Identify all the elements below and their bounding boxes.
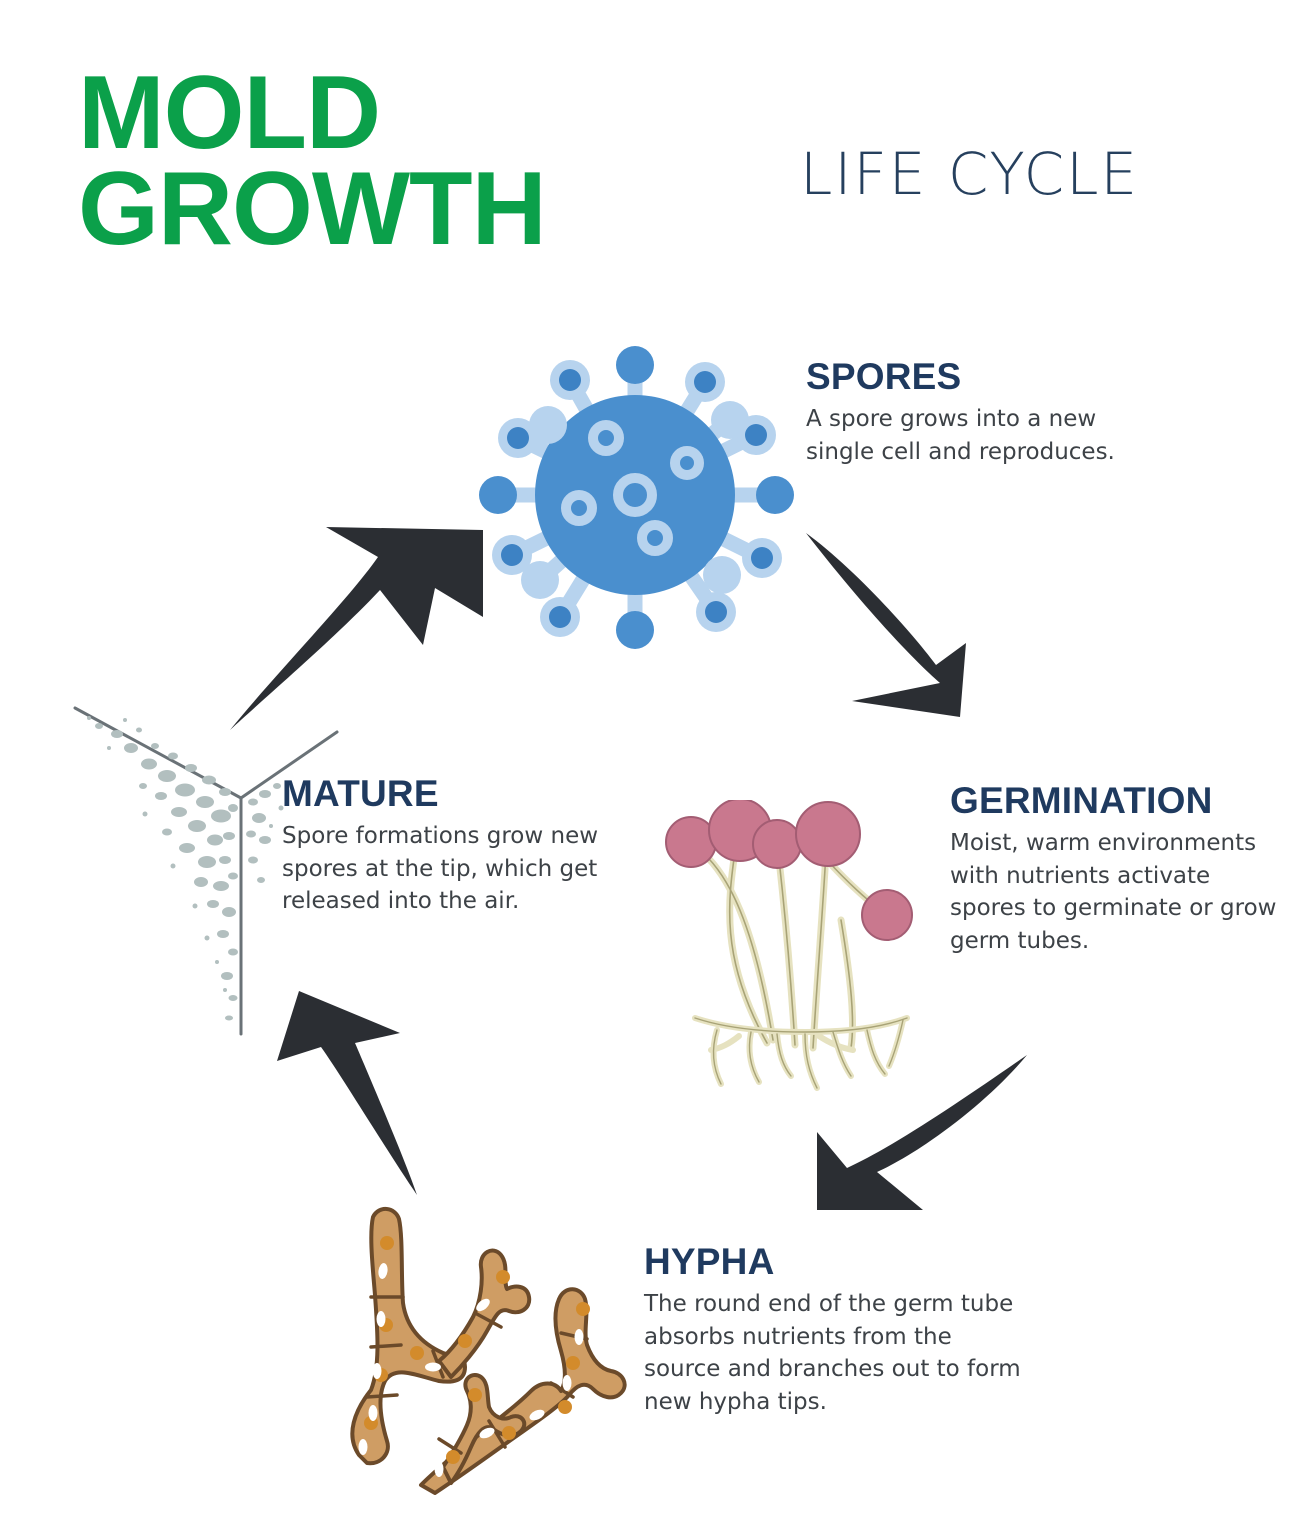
stage-spores-heading: SPORES: [806, 358, 1166, 397]
stage-germination: GERMINATION Moist, warm environments wit…: [950, 782, 1290, 957]
arrow-mature-to-spores: [228, 495, 488, 735]
stage-germination-body: Moist, warm environments with nutrients …: [950, 827, 1290, 958]
stage-mature-heading: MATURE: [282, 775, 602, 814]
branching-hypha-illustration: [315, 1185, 645, 1495]
stage-mature: MATURE Spore formations grow new spores …: [282, 775, 602, 918]
stage-mature-body: Spore formations grow new spores at the …: [282, 820, 602, 918]
arrow-hypha-to-mature: [255, 955, 450, 1200]
arrow-germination-to-hypha: [795, 1050, 1035, 1225]
infographic-canvas: MOLD GROWTH LIFE CYCLE: [0, 0, 1313, 1536]
spore-cell-illustration: [470, 330, 800, 660]
arrow-spores-to-germination: [788, 505, 1018, 725]
stage-hypha: HYPHA The round end of the germ tube abs…: [644, 1243, 1024, 1418]
hypha-branches: [352, 1209, 624, 1493]
stage-germination-heading: GERMINATION: [950, 782, 1290, 821]
stage-spores: SPORES A spore grows into a new single c…: [806, 358, 1166, 468]
stage-spores-body: A spore grows into a new single cell and…: [806, 403, 1166, 468]
germ-heads: [666, 800, 912, 940]
page-subtitle: LIFE CYCLE: [800, 140, 1139, 208]
page-title: MOLD GROWTH: [78, 66, 698, 257]
stage-hypha-heading: HYPHA: [644, 1243, 1024, 1282]
stage-hypha-body: The round end of the germ tube absorbs n…: [644, 1288, 1024, 1419]
